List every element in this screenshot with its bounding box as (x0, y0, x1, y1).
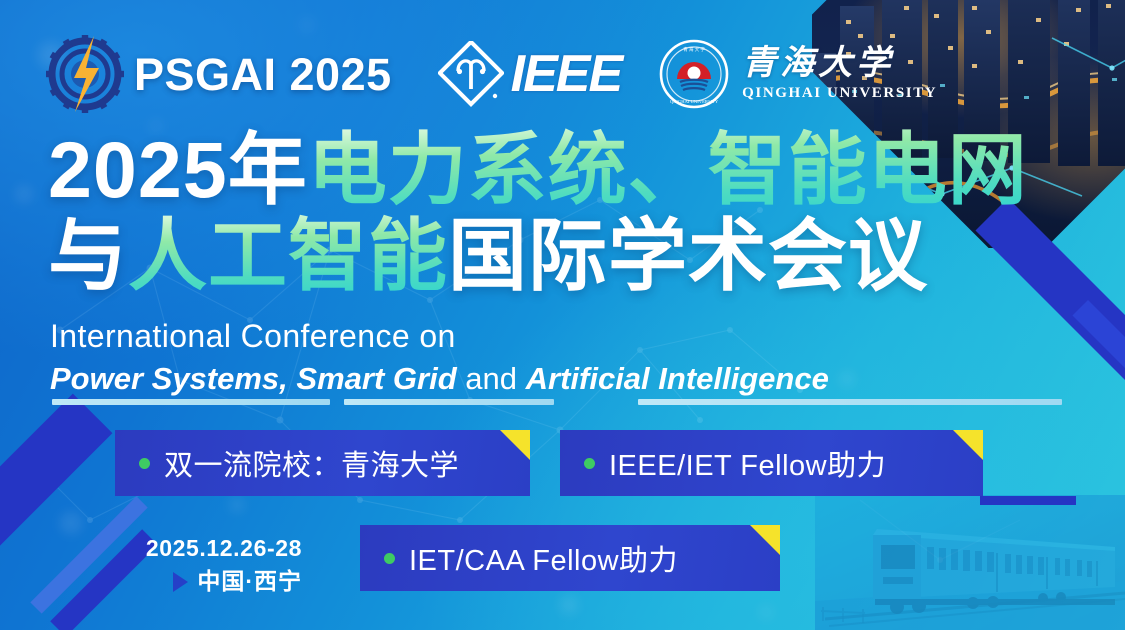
play-triangle-icon (173, 572, 188, 592)
subtitle-and-word: and (465, 361, 517, 396)
subtitle-underline (638, 399, 1062, 405)
ieee-label: IEEE (511, 48, 622, 100)
bokeh-dot (560, 596, 578, 614)
green-dot-icon (584, 458, 595, 469)
badge-iet-caa-fellow[interactable]: IET/CAA Fellow助力 (360, 525, 780, 591)
ieee-logo: IEEE (438, 41, 622, 107)
subtitle-line-1: International Conference on (50, 316, 829, 356)
bokeh-dot (300, 18, 314, 32)
subtitle-space (517, 361, 526, 396)
subtitle-em-3: Artificial Intelligence (526, 361, 829, 396)
yellow-corner-icon (953, 430, 983, 460)
badge-label: IET/CAA Fellow助力 (409, 537, 678, 579)
title-line2-green: 人工智能 (128, 211, 448, 300)
event-details: 2025.12.26-28 中国·西宁 (110, 534, 302, 597)
yellow-corner-icon (750, 525, 780, 555)
badge-label: IEEE/IET Fellow助力 (609, 442, 886, 484)
bokeh-dot (60, 512, 82, 534)
event-location: 中国·西宁 (197, 567, 302, 597)
badge-label: 双一流院校：青海大学 (164, 442, 459, 484)
ieee-diamond-icon (438, 41, 504, 107)
badge-dual-first-class[interactable]: 双一流院校：青海大学 (115, 430, 530, 496)
subtitle-line-2: Power Systems, Smart Grid and Artificial… (50, 360, 829, 399)
qinghai-name-cn: 青海大学 (742, 46, 937, 80)
title-line-1: 2025年电力系统、智能电网 (48, 132, 1068, 208)
bokeh-dot (840, 372, 854, 386)
main-title: 2025年电力系统、智能电网 与人工智能国际学术会议 (48, 132, 1068, 294)
green-dot-icon (139, 458, 150, 469)
corner-accent-bar (980, 496, 1076, 505)
logo-row: PSGAI 2025 IEEE (46, 38, 937, 110)
bokeh-dot (16, 186, 32, 202)
title-line1-green: 电力系统、智能电网 (308, 125, 1028, 214)
event-location-row: 中国·西宁 (110, 567, 302, 597)
diagonal-stripe (0, 394, 112, 596)
psgai-label: PSGAI 2025 (134, 52, 392, 97)
subtitle-underline (52, 399, 330, 405)
train-photo (815, 495, 1125, 630)
svg-text:QINGHAI UNIVERSITY: QINGHAI UNIVERSITY (670, 99, 719, 104)
english-subtitle: International Conference on Power System… (50, 316, 829, 399)
green-dot-icon (384, 553, 395, 564)
svg-text:青 海 大 学: 青 海 大 学 (683, 46, 705, 53)
subtitle-underline (344, 399, 554, 405)
qinghai-name-block: 青海大学 QINGHAI UNIVERSITY (742, 46, 937, 102)
qinghai-university-seal-icon: 青 海 大 学 QINGHAI UNIVERSITY (659, 39, 729, 109)
psgai-logo: PSGAI 2025 (46, 35, 392, 113)
qinghai-university-logo: 青 海 大 学 QINGHAI UNIVERSITY 青海大学 QINGHAI … (659, 39, 937, 109)
qinghai-name-en: QINGHAI UNIVERSITY (742, 85, 937, 102)
bokeh-dot (760, 606, 772, 618)
subtitle-em-1: Power Systems, (50, 361, 288, 396)
subtitle-conj-and (457, 361, 466, 396)
gear-lightning-icon (46, 35, 124, 113)
badge-ieee-iet-fellow[interactable]: IEEE/IET Fellow助力 (560, 430, 983, 496)
conference-banner: PSGAI 2025 IEEE (0, 0, 1125, 630)
subtitle-em-2: Smart Grid (296, 361, 456, 396)
subtitle-underlines (50, 399, 1080, 406)
bokeh-dot (230, 498, 244, 512)
yellow-corner-icon (500, 430, 530, 460)
title-line1-white: 2025年 (48, 125, 308, 214)
event-date: 2025.12.26-28 (110, 534, 302, 563)
title-line2-white-b: 国际学术会议 (448, 211, 928, 300)
title-line-2: 与人工智能国际学术会议 (48, 218, 1068, 294)
title-line2-white-a: 与 (48, 211, 128, 300)
